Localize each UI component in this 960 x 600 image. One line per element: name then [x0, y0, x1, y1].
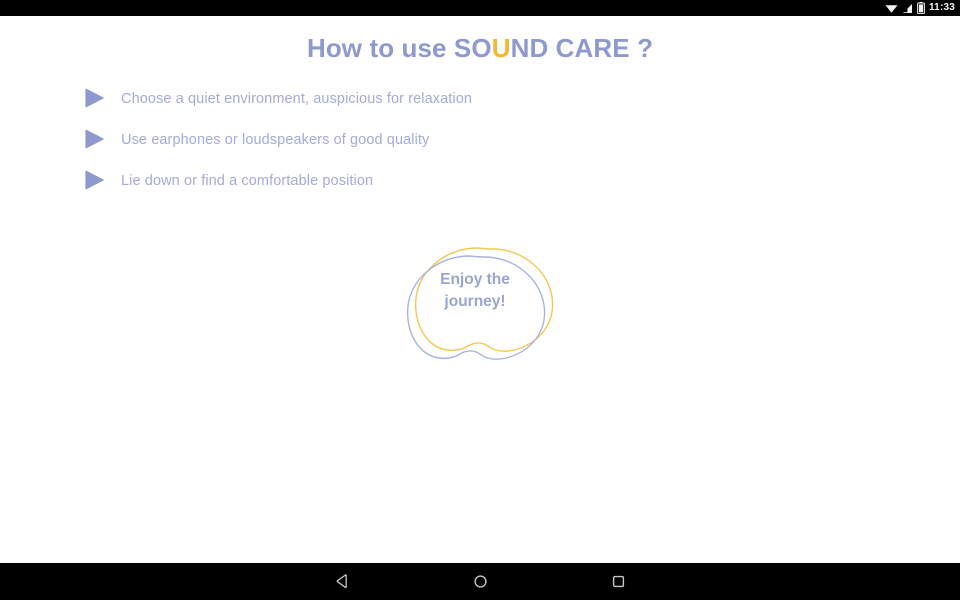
navigation-bar: [0, 563, 960, 600]
nav-home-button[interactable]: [456, 563, 504, 600]
device-screen: 11:33 How to use SOUND CARE ? Choose a q…: [0, 0, 960, 600]
page-title-accent-letter: U: [492, 33, 511, 63]
list-item: Choose a quiet environment, auspicious f…: [82, 78, 862, 119]
list-item: Use earphones or loudspeakers of good qu…: [82, 119, 862, 160]
page-title-part2: ND CARE ?: [511, 33, 653, 63]
list-item-label: Use earphones or loudspeakers of good qu…: [121, 132, 429, 148]
status-bar-clock: 11:33: [929, 0, 955, 16]
cellular-signal-icon: [902, 3, 913, 14]
enjoy-journey-bubble: Enjoy the journey!: [396, 232, 568, 372]
play-triangle-icon: [82, 86, 107, 111]
status-bar: 11:33: [0, 0, 960, 16]
enjoy-journey-text: Enjoy the journey!: [410, 269, 540, 313]
app-content: How to use SOUND CARE ? Choose a quiet e…: [0, 16, 960, 563]
page-title: How to use SOUND CARE ?: [0, 33, 960, 64]
play-triangle-icon: [82, 168, 107, 193]
list-item-label: Lie down or find a comfortable position: [121, 173, 373, 189]
list-item-label: Choose a quiet environment, auspicious f…: [121, 91, 472, 107]
nav-recents-button[interactable]: [594, 563, 642, 600]
nav-back-button[interactable]: [318, 563, 366, 600]
play-triangle-icon: [82, 127, 107, 152]
wifi-icon: [885, 3, 898, 14]
list-item: Lie down or find a comfortable position: [82, 160, 862, 201]
page-title-part1: How to use SO: [307, 33, 492, 63]
tips-list: Choose a quiet environment, auspicious f…: [82, 78, 862, 201]
battery-icon: [917, 2, 925, 14]
